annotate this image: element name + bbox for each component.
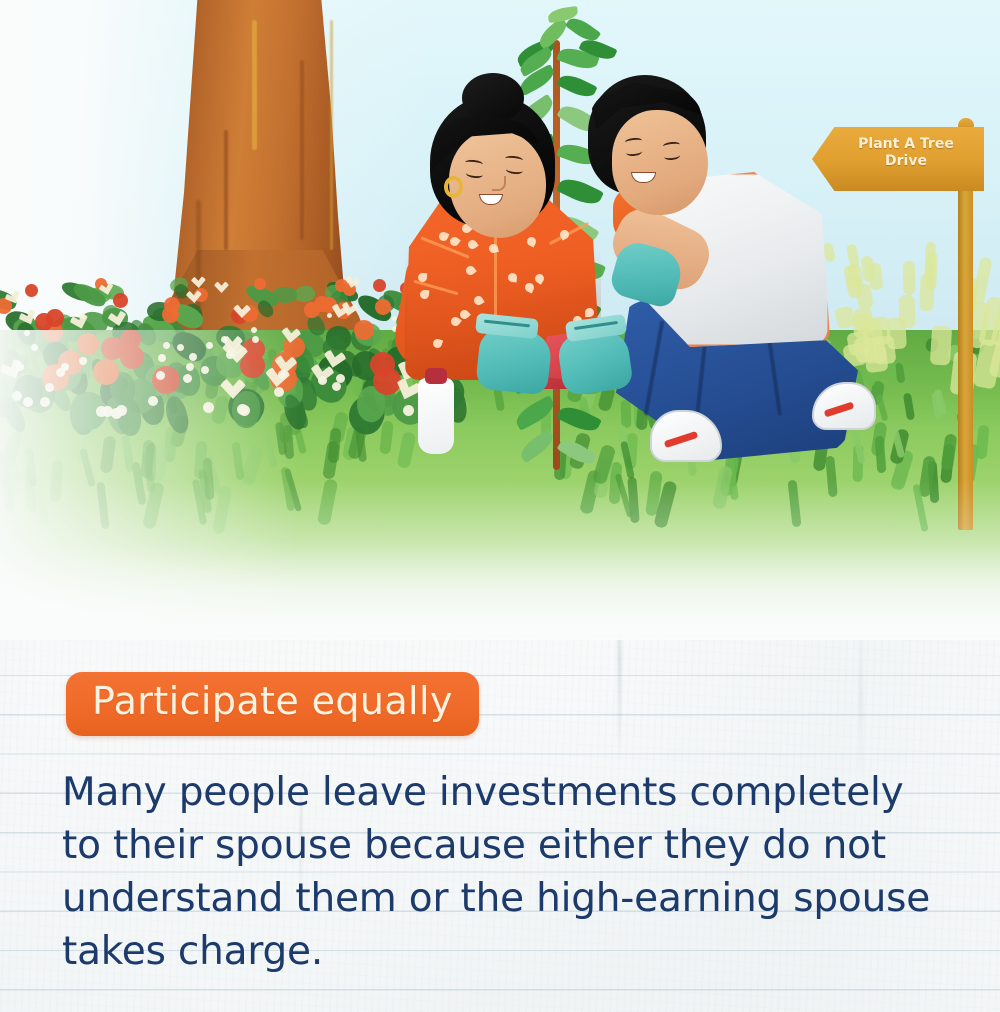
body-line: understand them or the high-earning spou… bbox=[62, 872, 962, 925]
bed-flower-orange bbox=[373, 279, 386, 292]
paper-crease bbox=[860, 620, 862, 780]
grass-blade-highlight bbox=[869, 316, 891, 346]
bed-flower-cream bbox=[191, 276, 207, 289]
section-heading-badge: Participate equally bbox=[66, 672, 479, 736]
bed-flower-orange bbox=[25, 284, 38, 297]
woman-earring bbox=[444, 176, 463, 198]
grass-blade-highlight bbox=[924, 242, 936, 280]
grass-blade-highlight bbox=[903, 261, 916, 295]
bark-line bbox=[224, 130, 228, 250]
bed-flower-orange bbox=[370, 352, 395, 377]
grass-left-fade bbox=[0, 330, 300, 640]
bed-flower-cream bbox=[214, 281, 229, 293]
bed-bud bbox=[80, 313, 85, 318]
bed-bud bbox=[327, 313, 332, 318]
spray-bottle-cap bbox=[425, 368, 447, 384]
signpost-line-2: Drive bbox=[836, 153, 976, 170]
bed-flower-orange bbox=[354, 320, 374, 340]
signpost-text: Plant A Tree Drive bbox=[836, 136, 976, 170]
bed-flower-orange bbox=[304, 302, 320, 318]
bed-flower-orange bbox=[254, 278, 266, 290]
body-paragraph: Many people leave investments completely… bbox=[62, 766, 962, 978]
bed-foliage bbox=[272, 287, 297, 303]
grass-blade-highlight bbox=[930, 325, 952, 365]
bed-flower-orange bbox=[162, 306, 179, 323]
bed-bud bbox=[332, 382, 341, 391]
bark-line bbox=[330, 20, 333, 250]
man-face bbox=[612, 110, 708, 215]
grass-blade bbox=[621, 400, 632, 428]
infographic-card: Plant A Tree Drive Participate equally M… bbox=[0, 0, 1000, 1012]
body-line: takes charge. bbox=[62, 925, 962, 978]
signpost-line-1: Plant A Tree bbox=[836, 136, 976, 153]
kurta-floral-motif bbox=[508, 273, 518, 283]
bed-flower-orange bbox=[375, 299, 391, 315]
bark-line bbox=[252, 20, 257, 150]
body-line: Many people leave investments completely bbox=[62, 766, 962, 819]
body-line: to their spouse because either they do n… bbox=[62, 819, 962, 872]
bed-flower-orange bbox=[335, 279, 348, 292]
bed-flower-orange bbox=[46, 309, 64, 327]
section-heading-text: Participate equally bbox=[92, 682, 453, 720]
bark-line bbox=[300, 60, 304, 240]
signpost-pole bbox=[958, 175, 973, 530]
spray-bottle bbox=[418, 378, 454, 454]
bed-bud bbox=[318, 376, 327, 385]
bed-flower-orange bbox=[113, 293, 128, 308]
bed-bud bbox=[403, 405, 414, 416]
illustration-tree-planting: Plant A Tree Drive bbox=[0, 0, 1000, 640]
bed-bud bbox=[392, 316, 397, 321]
